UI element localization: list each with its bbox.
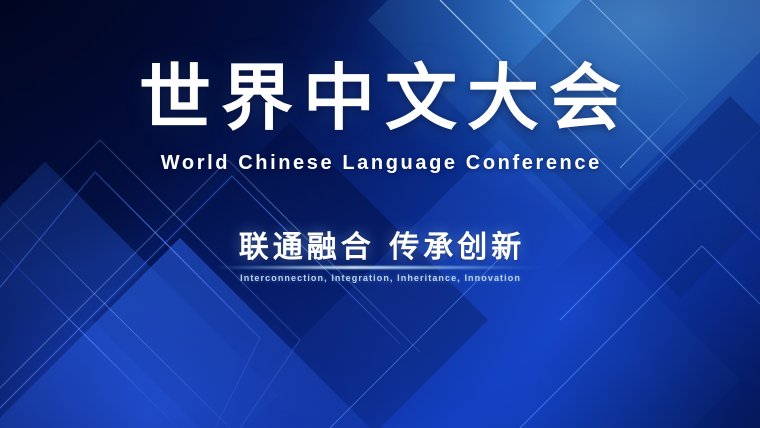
background-shade-bottom-right: [0, 0, 760, 428]
poster-content: 世界中文大会 World Chinese Language Conference…: [0, 0, 760, 428]
facet-bottom-left-1: [0, 162, 278, 428]
tagline-glow-streak: [215, 266, 545, 269]
background-shade-top-left: [0, 0, 760, 428]
background-glow-bottom-left: [0, 0, 760, 428]
facet-top-right-dark: [482, 0, 760, 298]
page-title-english: World Chinese Language Conference: [158, 152, 602, 175]
tagline-english: Interconnection, Integration, Inheritanc…: [239, 273, 521, 283]
page-title-chinese: 世界中文大会: [129, 62, 631, 134]
decorative-chevron-lines: [0, 0, 760, 428]
background-base-gradient: [0, 0, 760, 428]
vignette-overlay: [0, 0, 760, 428]
tagline-block: 联通融合 传承创新 Interconnection, Integration, …: [215, 232, 545, 283]
conference-poster: 世界中文大会 World Chinese Language Conference…: [0, 0, 760, 428]
facet-bottom-left-2: [0, 238, 392, 428]
facet-right-diamond: [546, 96, 760, 428]
facet-top-right-light: [368, 0, 760, 232]
facet-bottom-left-dark: [92, 122, 488, 428]
tagline-chinese: 联通融合 传承创新: [235, 232, 525, 264]
background-glow-top-right: [0, 0, 760, 428]
facet-bottom-center: [260, 140, 741, 428]
